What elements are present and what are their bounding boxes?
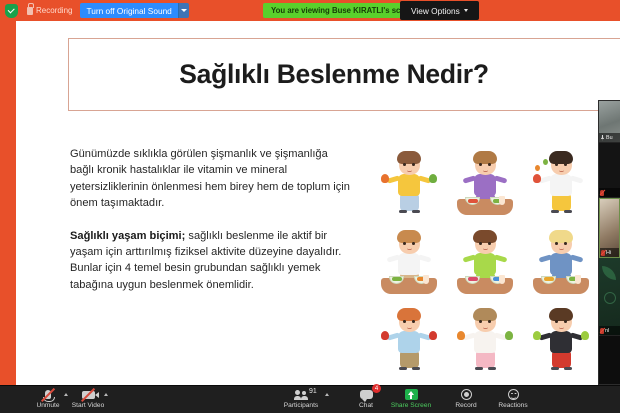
leaf-decoration-icon — [604, 292, 616, 304]
illustration-cell — [523, 217, 599, 295]
food-item-right — [429, 174, 437, 183]
video-thumbnail-1[interactable]: Bu — [599, 101, 620, 143]
flying-vegetable — [543, 159, 548, 165]
cup — [575, 275, 581, 284]
hair — [473, 230, 497, 243]
toolbar-start-video-label: Start Video — [72, 402, 105, 409]
boy-holding-broccoli-and-carrot — [379, 147, 439, 217]
hair — [397, 308, 421, 321]
toolbar-record-button[interactable]: Record — [440, 388, 492, 409]
chevron-up-icon[interactable] — [104, 393, 108, 396]
eye-right — [412, 320, 415, 323]
food-item-right — [505, 331, 513, 340]
video-name-label-2 — [599, 188, 620, 197]
torso — [398, 331, 420, 353]
eye-left — [403, 163, 406, 166]
recording-label: Recording — [36, 6, 72, 15]
toolbar-participants-label: Participants — [284, 402, 318, 409]
participant-video-strip[interactable]: Bu Hi nl — [598, 100, 620, 385]
eye-right — [488, 242, 491, 245]
mouth — [483, 327, 488, 329]
girl-with-lunchbox — [455, 226, 515, 296]
food-item-left — [457, 331, 465, 340]
view-options-label: View Options — [411, 6, 460, 16]
paragraph-2-lead: Sağlıklı yaşam biçimi; — [70, 230, 185, 242]
eye-right — [564, 320, 567, 323]
torso — [550, 331, 572, 353]
recording-indicator[interactable]: Recording — [27, 6, 72, 15]
eye-left — [403, 320, 406, 323]
hair — [549, 308, 573, 321]
eye-left — [479, 320, 482, 323]
illustration-cell — [447, 296, 523, 374]
eye-right — [412, 242, 415, 245]
toolbar-unmute-label: Unmute — [36, 402, 59, 409]
toolbar-participants-button[interactable]: 91Participants — [275, 388, 327, 409]
boy-with-fruit-bowl — [531, 226, 591, 296]
boy-offering-apple — [379, 304, 439, 374]
slide-title: Sağlıklı Beslenme Nedir? — [179, 59, 488, 90]
smiley-reactions-icon-wrap — [503, 388, 523, 401]
slide-body-text: Günümüzde sıklıkla görülen şişmanlık ve … — [70, 146, 350, 293]
toolbar-reactions-button[interactable]: Reactions — [487, 388, 539, 409]
mouth — [407, 327, 412, 329]
smiley-reactions-icon — [508, 389, 519, 400]
torso — [550, 253, 572, 275]
original-sound-caret[interactable] — [178, 3, 189, 18]
participant-name-3: Hi — [606, 250, 611, 256]
mic-muted-icon — [600, 328, 604, 334]
girl-holding-carrot — [455, 304, 515, 374]
boy-eating-salad-with-juice — [379, 226, 439, 296]
presentation-slide: Sağlıklı Beslenme Nedir? Günümüzde sıklı… — [16, 21, 620, 386]
hair — [397, 230, 421, 243]
original-sound-label[interactable]: Turn off Original Sound — [80, 3, 177, 18]
eye-left — [555, 163, 558, 166]
torso — [474, 331, 496, 353]
eye-right — [488, 320, 491, 323]
food-item-left — [533, 331, 541, 340]
hair — [549, 230, 573, 243]
child-at-table-with-salad — [455, 147, 515, 217]
torso — [550, 174, 572, 196]
cup — [499, 196, 505, 205]
participant-name-1: Bu — [606, 135, 613, 141]
share-screen-icon-wrap — [401, 388, 421, 401]
microphone-muted-icon-wrap — [38, 388, 58, 401]
boy-reaching-for-vegetables — [531, 147, 591, 217]
chat-bubble-icon — [360, 390, 373, 399]
original-sound-button[interactable]: Turn off Original Sound — [80, 3, 188, 18]
meeting-toolbar: UnmuteStart Video91Participants4ChatShar… — [0, 386, 620, 413]
hair — [397, 151, 421, 164]
leaf-decoration-icon — [602, 266, 616, 280]
illustration-cell — [371, 139, 447, 217]
paragraph-2: Sağlıklı yaşam biçimi; sağlıklı beslenme… — [70, 228, 350, 294]
video-name-label-3: Hi — [600, 248, 619, 257]
mic-muted-icon — [601, 250, 605, 256]
participant-count: 91 — [309, 388, 317, 395]
food-item-left — [381, 174, 389, 183]
boy-holding-apple — [531, 304, 591, 374]
flying-vegetable — [535, 165, 540, 171]
legs — [552, 351, 571, 368]
meeting-top-bar: Recording Turn off Original Sound You ar… — [0, 0, 620, 21]
illustration-cell — [371, 217, 447, 295]
illustration-cell — [371, 296, 447, 374]
chevron-down-icon — [464, 9, 468, 12]
shield-check-icon[interactable] — [5, 4, 18, 18]
video-thumbnail-3[interactable]: Hi — [599, 198, 620, 258]
food-item-right — [429, 331, 437, 340]
torso — [474, 174, 496, 196]
share-screen-icon — [405, 389, 418, 400]
record-circle-icon-wrap — [456, 388, 476, 401]
hair — [473, 308, 497, 321]
illustration-cell — [523, 296, 599, 374]
toolbar-record-label: Record — [455, 402, 476, 409]
people-icon — [294, 390, 309, 399]
video-name-label-4: nl — [599, 326, 620, 335]
legs — [400, 194, 419, 211]
food-item-left — [381, 331, 389, 340]
eye-left — [479, 163, 482, 166]
eye-left — [479, 242, 482, 245]
toolbar-chat-label: Chat — [359, 402, 373, 409]
legs — [552, 194, 571, 211]
toolbar-reactions-label: Reactions — [498, 402, 527, 409]
mouth — [483, 170, 488, 172]
camera-off-icon-wrap — [78, 388, 98, 401]
illustration-cell — [447, 217, 523, 295]
people-icon-wrap: 91 — [291, 388, 311, 401]
chevron-down-icon — [181, 9, 187, 12]
shared-screen-stage: Sağlıklı Beslenme Nedir? Günümüzde sıklı… — [16, 21, 620, 386]
mouth — [559, 327, 564, 329]
screen-share-border — [0, 21, 16, 386]
slide-title-box: Sağlıklı Beslenme Nedir? — [68, 38, 620, 111]
illustration-cell — [447, 139, 523, 217]
record-circle-icon — [461, 389, 472, 400]
legs — [476, 351, 495, 368]
mouth — [407, 170, 412, 172]
cup — [423, 275, 429, 284]
toolbar-share-screen-button[interactable]: Share Screen — [385, 388, 437, 409]
eye-right — [564, 242, 567, 245]
hair — [549, 151, 573, 164]
video-thumbnail-4[interactable]: nl — [599, 258, 620, 336]
video-thumbnail-2[interactable] — [599, 143, 620, 198]
zoom-meeting-window: Recording Turn off Original Sound You ar… — [0, 0, 620, 413]
chevron-up-icon[interactable] — [325, 393, 329, 396]
cup — [499, 275, 505, 284]
lock-icon — [27, 7, 33, 15]
legs — [400, 351, 419, 368]
paragraph-1: Günümüzde sıklıkla görülen şişmanlık ve … — [70, 146, 350, 212]
view-options-button[interactable]: View Options — [400, 1, 479, 20]
unread-badge: 4 — [372, 384, 381, 393]
eye-left — [555, 320, 558, 323]
eye-left — [403, 242, 406, 245]
eye-left — [555, 242, 558, 245]
mouth — [559, 170, 564, 172]
illustration-cell — [523, 139, 599, 217]
pin-icon — [600, 135, 605, 141]
toolbar-start-video-button[interactable]: Start Video — [62, 388, 114, 409]
mic-muted-icon — [600, 190, 604, 196]
food-item-left — [533, 174, 541, 183]
video-name-label-1: Bu — [599, 133, 620, 142]
torso — [398, 253, 420, 275]
food-item-right — [581, 331, 589, 340]
torso — [474, 253, 496, 275]
toolbar-share-screen-label: Share Screen — [391, 402, 431, 409]
children-illustration-grid — [371, 139, 599, 374]
torso — [398, 174, 420, 196]
participant-name-4: nl — [605, 328, 609, 334]
hair — [473, 151, 497, 164]
chat-bubble-icon-wrap: 4 — [356, 388, 376, 401]
